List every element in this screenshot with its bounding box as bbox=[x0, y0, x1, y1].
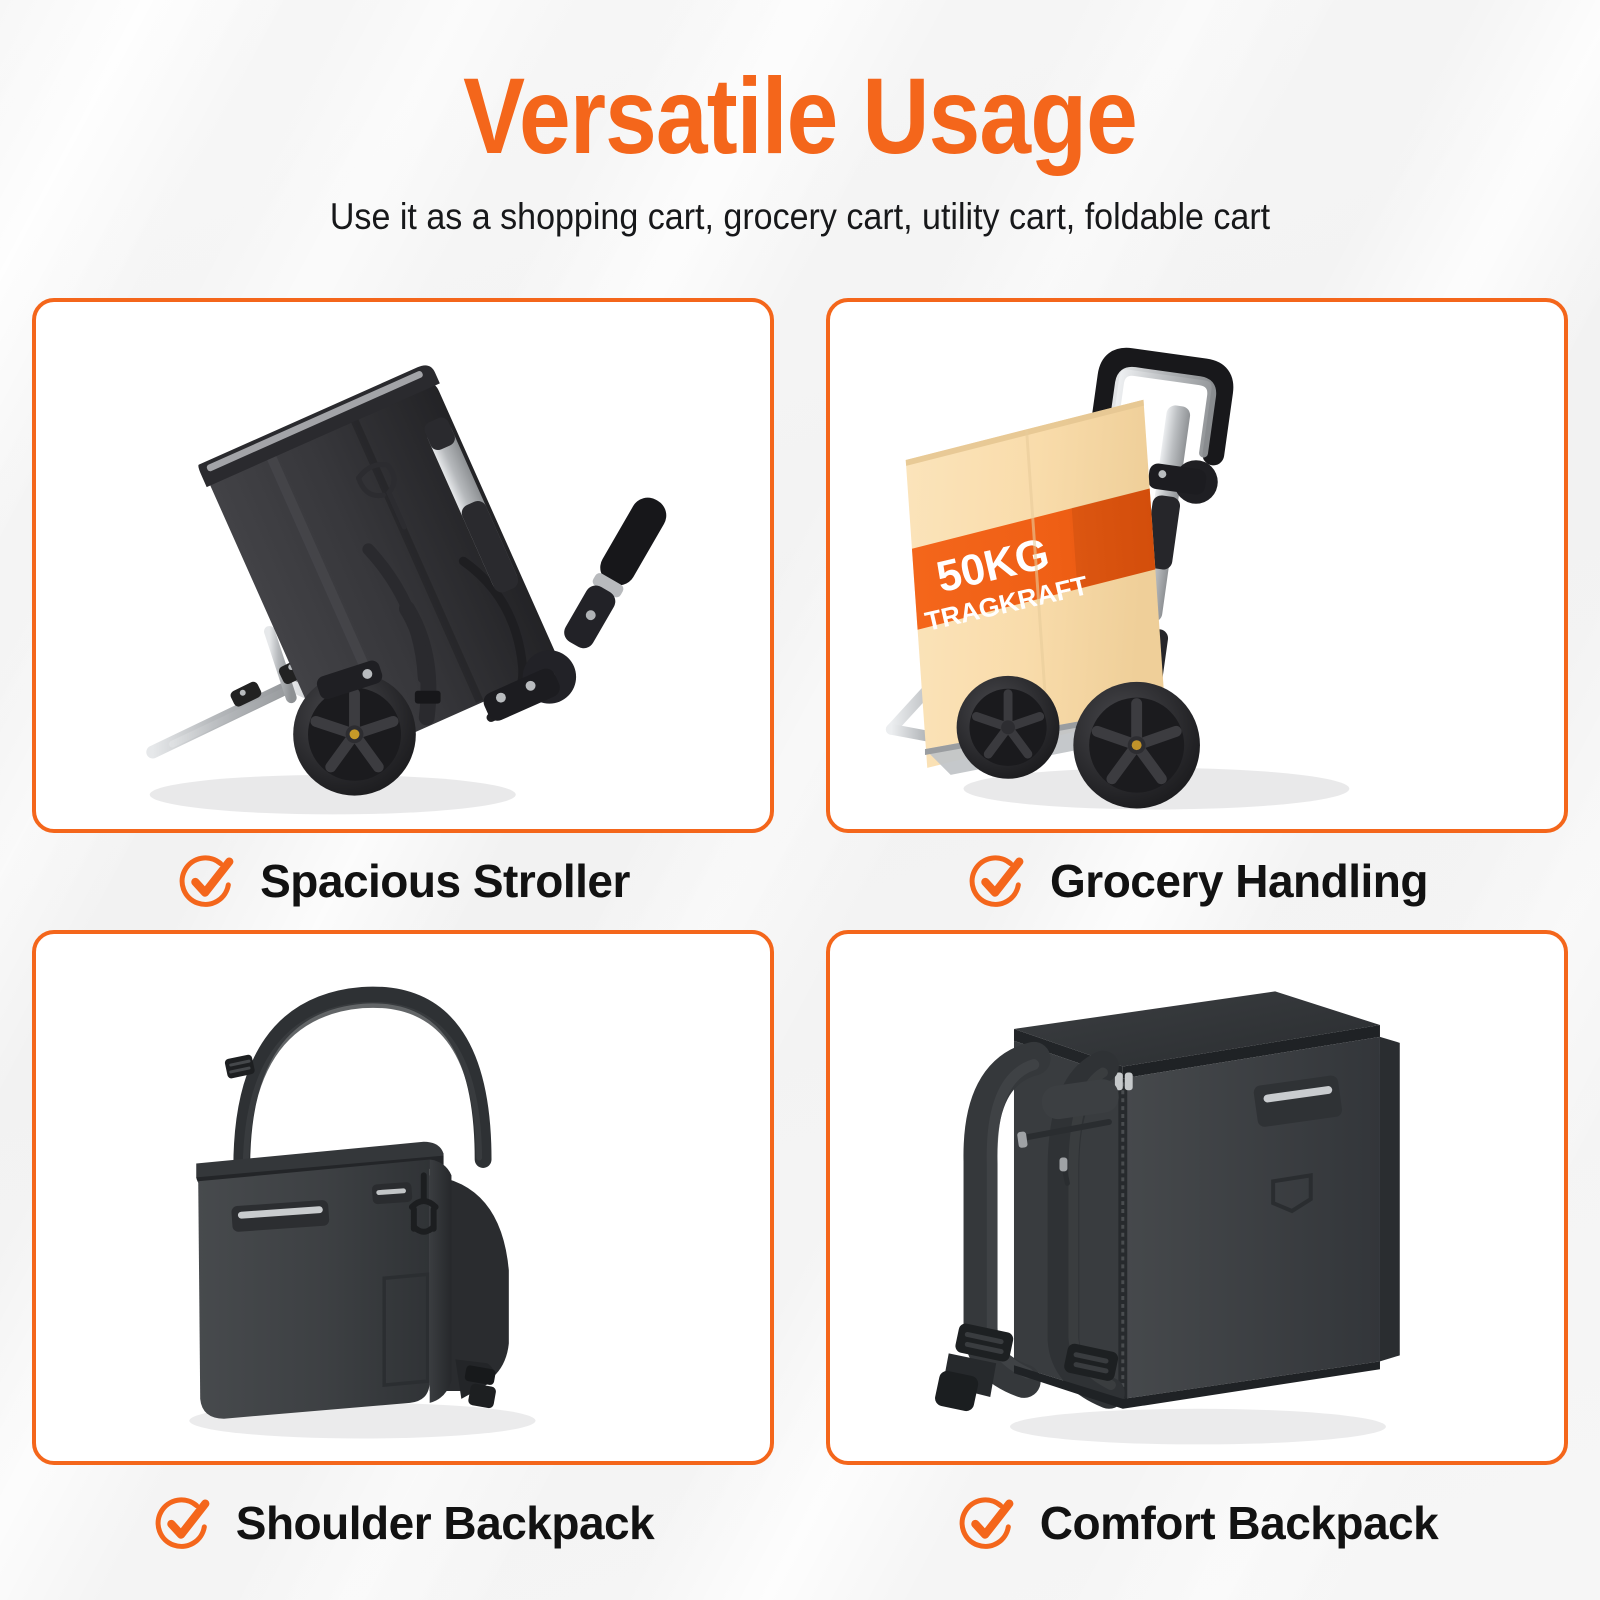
product-card-comfort-backpack bbox=[826, 930, 1568, 1465]
card-caption-spacious-stroller: Spacious Stroller bbox=[32, 836, 774, 926]
card-caption-label: Grocery Handling bbox=[1050, 854, 1428, 908]
shoulder-bag-illustration bbox=[36, 934, 770, 1463]
comfort-backpack-illustration bbox=[830, 934, 1564, 1463]
card-caption-comfort-backpack: Comfort Backpack bbox=[826, 1478, 1568, 1568]
card-caption-shoulder-backpack: Shoulder Backpack bbox=[32, 1478, 774, 1568]
header: Versatile Usage Use it as a shopping car… bbox=[0, 0, 1600, 238]
check-circle-icon bbox=[152, 1492, 214, 1554]
product-card-shoulder-backpack bbox=[32, 930, 774, 1465]
product-card-grocery-handling: 50KG TRAGKRAFT bbox=[826, 298, 1568, 833]
page-title: Versatile Usage bbox=[112, 62, 1488, 170]
check-circle-icon bbox=[966, 850, 1028, 912]
folded-trolley-illustration bbox=[36, 302, 770, 831]
check-circle-icon bbox=[176, 850, 238, 912]
card-caption-label: Spacious Stroller bbox=[260, 854, 630, 908]
card-caption-label: Comfort Backpack bbox=[1040, 1496, 1438, 1550]
page-subtitle: Use it as a shopping cart, grocery cart,… bbox=[64, 196, 1536, 238]
hand-truck-illustration: 50KG TRAGKRAFT bbox=[830, 302, 1564, 831]
product-card-spacious-stroller bbox=[32, 298, 774, 833]
infographic-page: Versatile Usage Use it as a shopping car… bbox=[0, 0, 1600, 1600]
card-caption-grocery-handling: Grocery Handling bbox=[826, 836, 1568, 926]
card-caption-label: Shoulder Backpack bbox=[236, 1496, 654, 1550]
check-circle-icon bbox=[956, 1492, 1018, 1554]
